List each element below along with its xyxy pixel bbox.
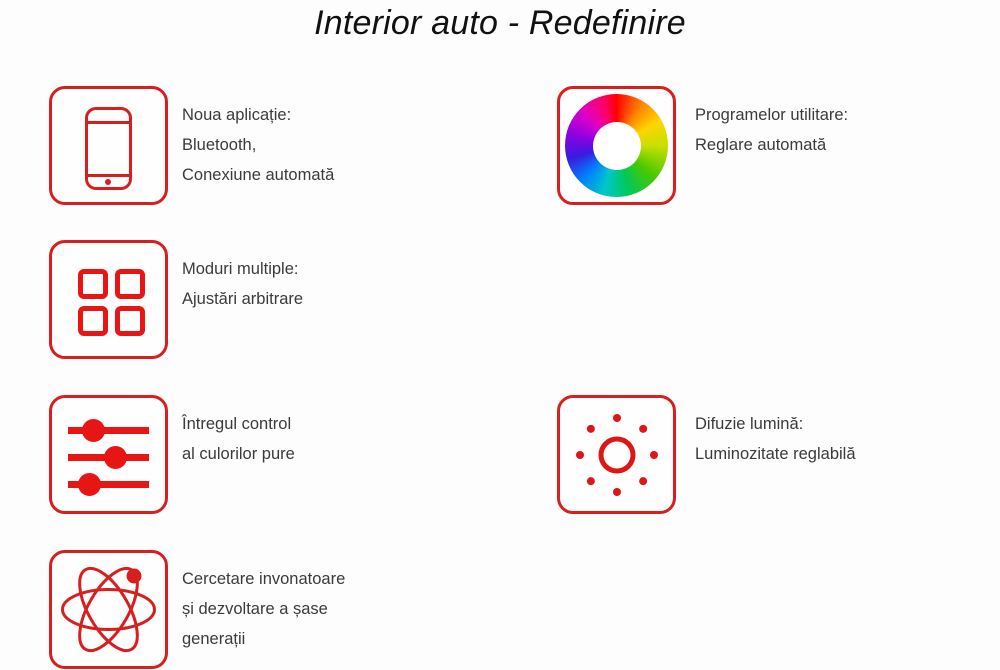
feature-line: Programelor utilitare: [695,100,848,130]
color-wheel-icon [557,86,676,205]
feature-line: Conexiune automată [182,160,334,190]
feature-text-phone: Noua aplicație: Bluetooth, Conexiune aut… [182,86,334,190]
feature-item-grid: Moduri multiple: Ajustări arbitrare [49,240,303,359]
feature-line: generații [182,624,345,654]
feature-item-sun: Difuzie lumină: Luminozitate reglabilă [557,395,856,514]
feature-line: al culorilor pure [182,439,295,469]
atom-orbits-svg [58,559,159,660]
sun-brightness-icon [557,395,676,514]
slider-knob [78,473,101,496]
slider-knob [104,446,127,469]
feature-item-sliders: Întregul control al culorilor pure [49,395,295,514]
grid-cell [115,306,145,336]
slider-bar [68,427,149,434]
feature-text-sun: Difuzie lumină: Luminozitate reglabilă [695,395,856,469]
sun-ring [598,436,635,473]
feature-line: și dezvoltare a șase [182,594,345,624]
feature-line: Întregul control [182,409,295,439]
smartphone-bottom-line [85,174,132,177]
feature-line: Noua aplicație: [182,100,334,130]
slider-knob [82,419,105,442]
sun-ray-dot [613,488,621,496]
feature-line: Moduri multiple: [182,254,303,284]
feature-text-atom: Cercetare invonatoare și dezvoltare a șa… [182,550,345,654]
grid-cell [78,269,108,299]
grid-cell [78,306,108,336]
atom-electron-dot [127,569,142,584]
feature-line: Ajustări arbitrare [182,284,303,314]
page-root: Interior auto - Redefinire Noua aplicați… [0,0,1000,670]
feature-item-atom: Cercetare invonatoare și dezvoltare a șa… [49,550,345,669]
sun-ray-dot [585,423,596,434]
smartphone-body-shape [85,107,132,190]
feature-line: Difuzie lumină: [695,409,856,439]
sun-ray-dot [585,475,596,486]
sun-ray-dot [637,475,648,486]
grid-cells-group [78,269,145,336]
sun-ray-dot [650,451,658,459]
color-wheel-hole [593,122,641,170]
smartphone-icon [49,86,168,205]
slider-track [68,427,149,434]
feature-text-color-wheel: Programelor utilitare: Reglare automată [695,86,848,160]
grid-cell [115,269,145,299]
sun-ray-dot [637,423,648,434]
sun-ray-dot [576,451,584,459]
smartphone-home-dot [105,179,111,185]
grid-modes-icon [49,240,168,359]
slider-track [68,481,149,488]
sliders-icon [49,395,168,514]
feature-line: Cercetare invonatoare [182,564,345,594]
atom-orbit-horizontal [63,590,155,630]
atom-icon [49,550,168,669]
smartphone-earpiece-line [85,121,132,124]
slider-track [68,454,149,461]
feature-text-sliders: Întregul control al culorilor pure [182,395,295,469]
feature-line: Luminozitate reglabilă [695,439,856,469]
page-title: Interior auto - Redefinire [0,4,1000,43]
feature-text-grid: Moduri multiple: Ajustări arbitrare [182,240,303,314]
color-wheel-ring [565,94,668,197]
feature-line: Bluetooth, [182,130,334,160]
feature-item-color-wheel: Programelor utilitare: Reglare automată [557,86,848,205]
feature-item-phone: Noua aplicație: Bluetooth, Conexiune aut… [49,86,334,205]
sun-ray-dot [613,414,621,422]
feature-line: Reglare automată [695,130,848,160]
